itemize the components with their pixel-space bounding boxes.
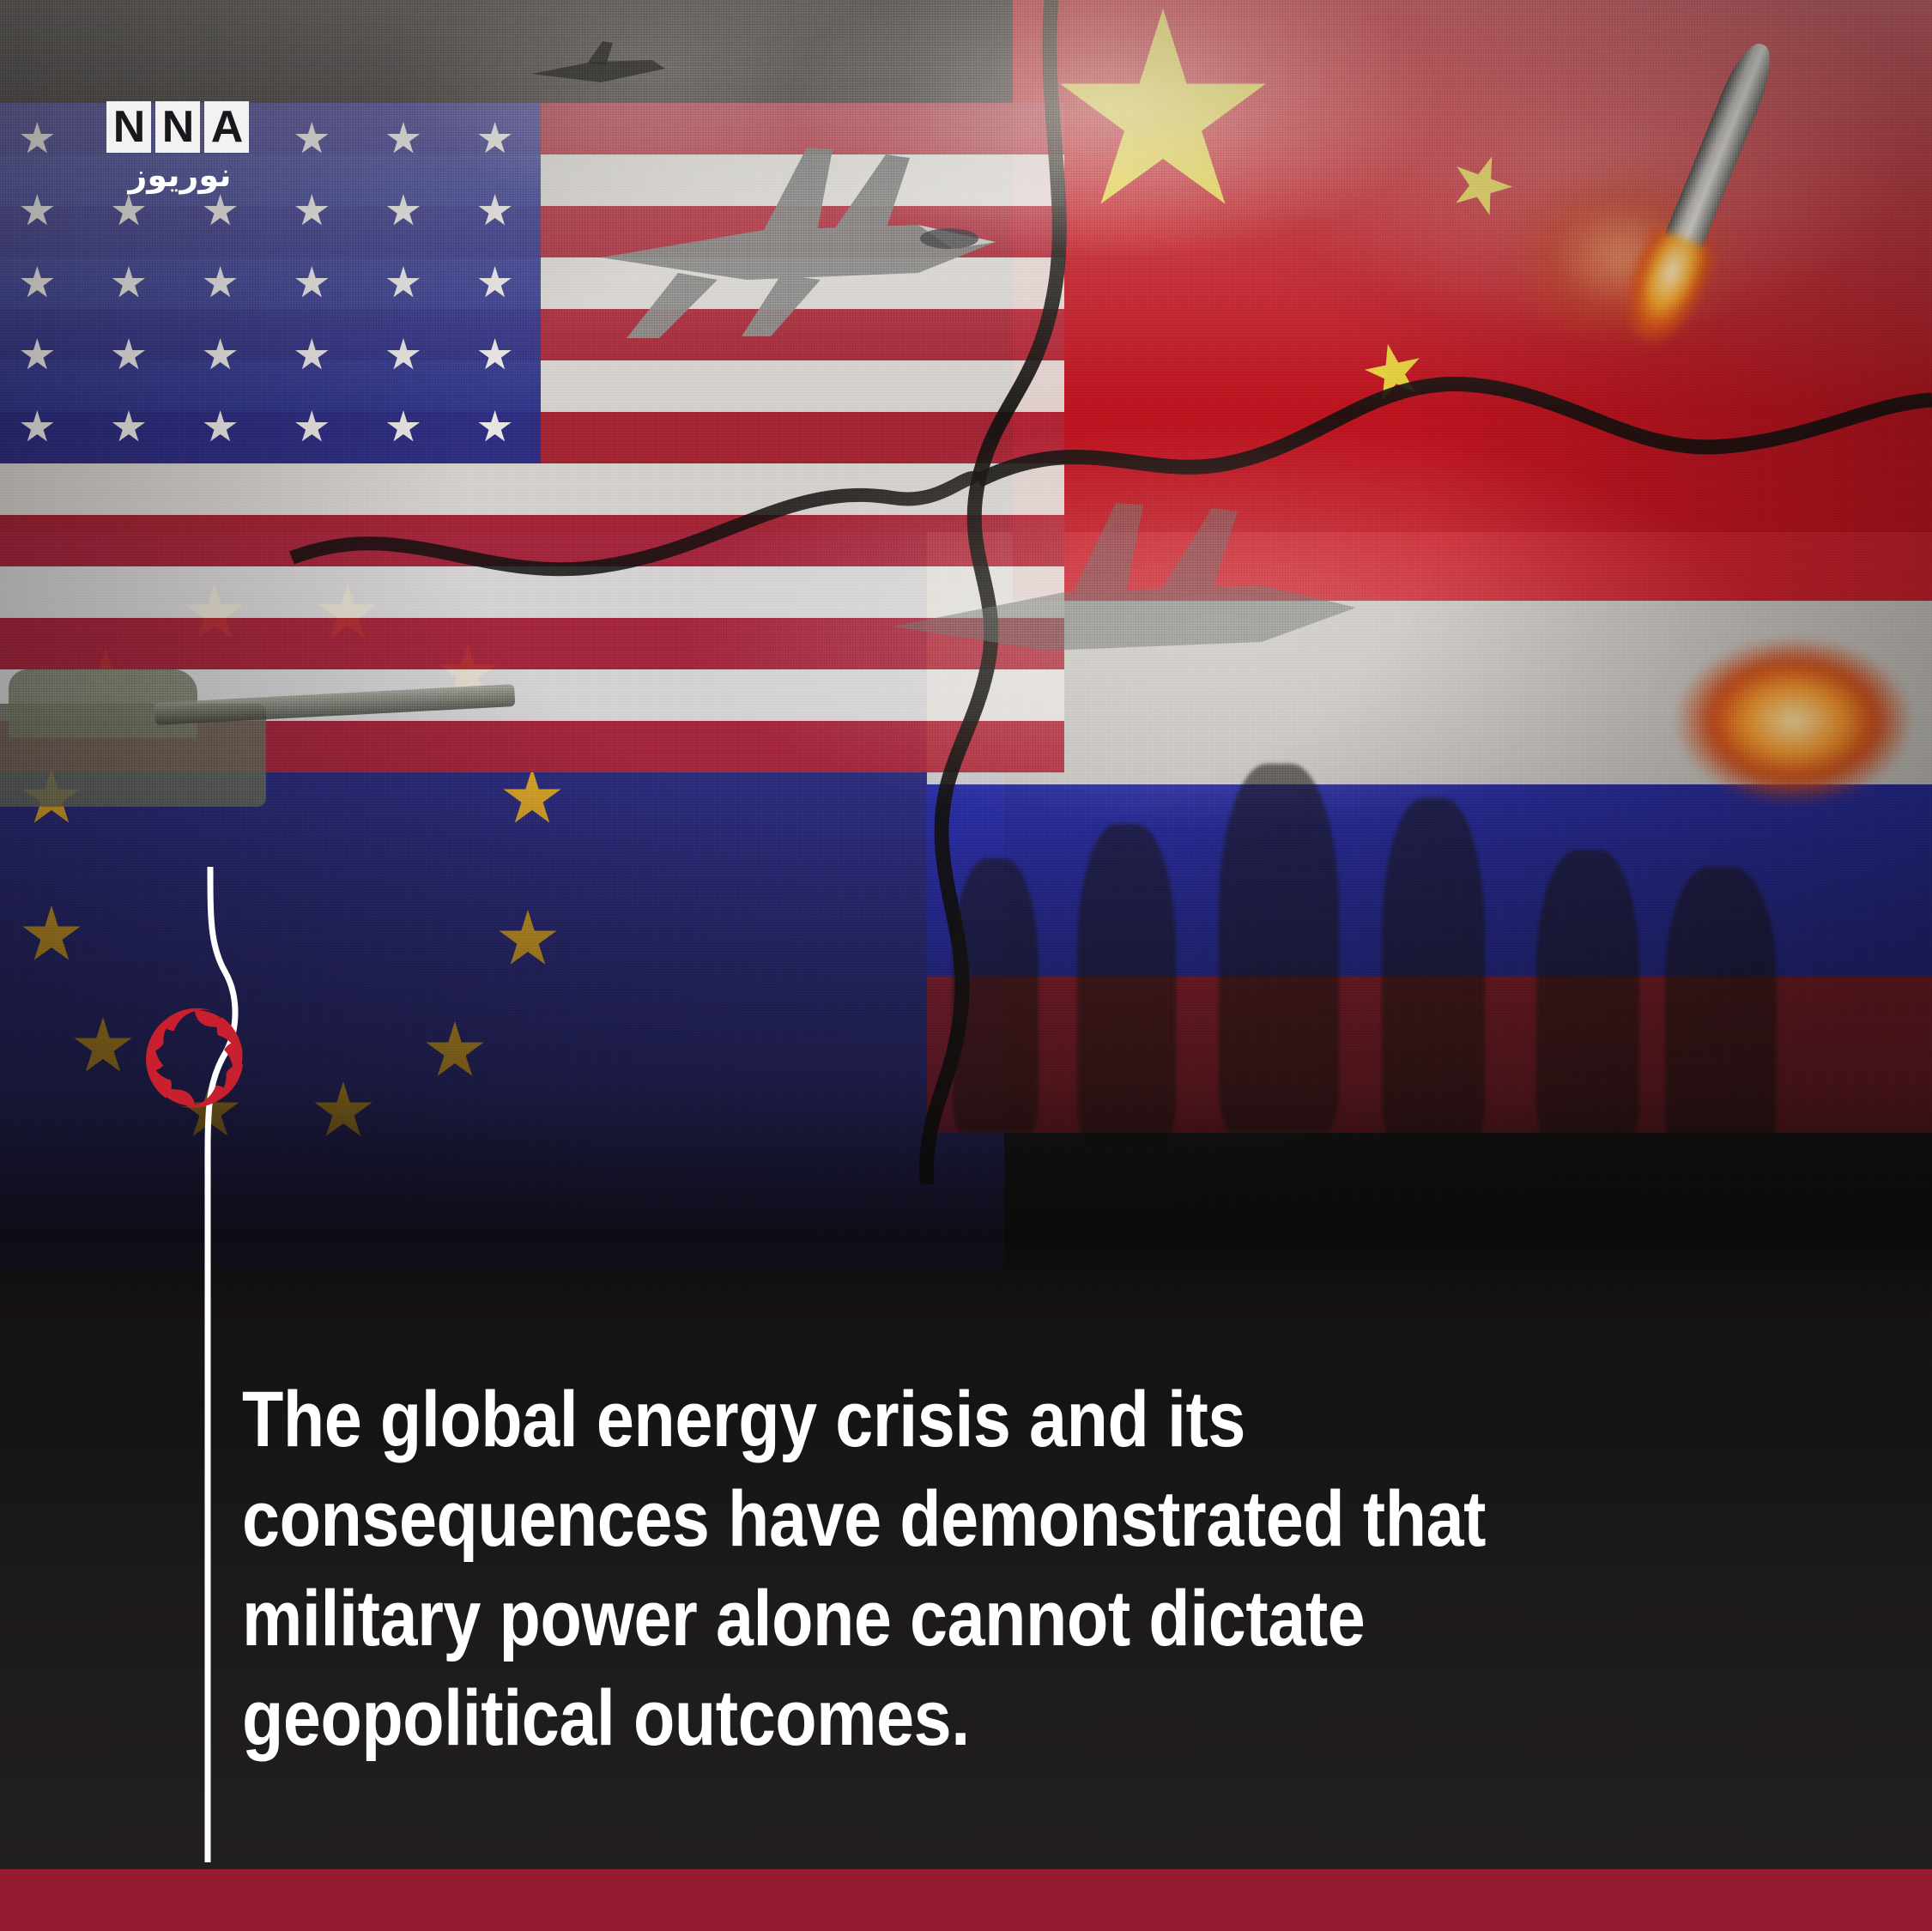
nna-logo-subtitle: نوریوز (106, 156, 253, 194)
news-graphic-poster: The global energy crisis and its consequ… (0, 0, 1932, 1931)
nna-logo-letter-n1: N (106, 101, 151, 153)
nna-logo[interactable]: N N A نوریوز (106, 101, 253, 194)
caption-text: The global energy crisis and its consequ… (242, 1370, 1511, 1768)
nna-logo-letter-a: A (204, 101, 249, 153)
bottom-accent-bar (0, 1869, 1932, 1931)
nna-logo-letter-n2: N (155, 101, 200, 153)
nna-logo-letters: N N A (106, 101, 253, 153)
nour-news-spiral-icon (142, 1006, 247, 1111)
